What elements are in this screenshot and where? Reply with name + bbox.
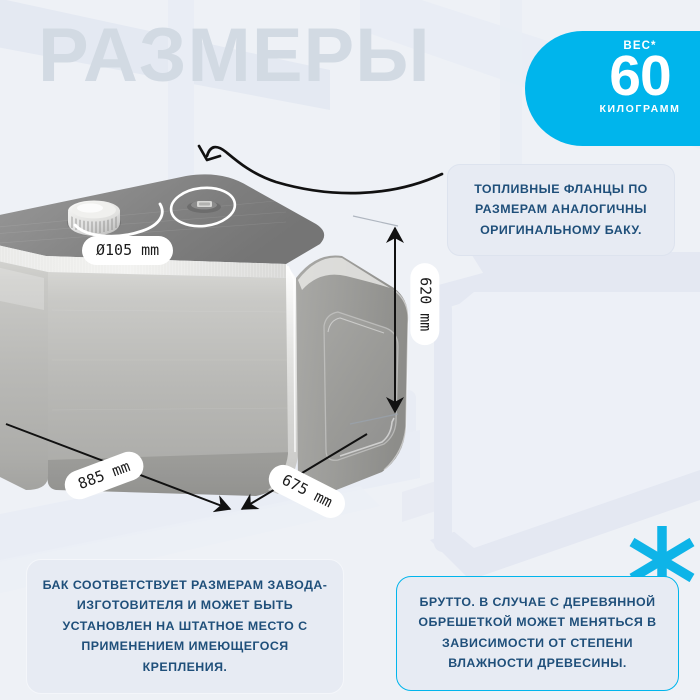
fuel-tank-3d-illustration bbox=[0, 160, 416, 530]
callout-gross-weight: Брутто. В случае с деревянной обрешеткой… bbox=[396, 576, 679, 691]
infographic-canvas: РАЗМЕРЫ ВЕС* 60 КИЛОГРАММ bbox=[0, 0, 700, 700]
dimension-label-diameter: Ø105 mm bbox=[82, 236, 173, 265]
weight-badge-value: 60 bbox=[525, 50, 700, 102]
page-title-watermark: РАЗМЕРЫ bbox=[38, 18, 431, 94]
weight-badge-unit: КИЛОГРАММ bbox=[525, 103, 700, 115]
dimension-label-height: 620 mm bbox=[411, 263, 440, 345]
weight-badge: ВЕС* 60 КИЛОГРАММ bbox=[525, 31, 700, 146]
callout-flanges: Топливные Фланцы по размерам аналогичны … bbox=[447, 164, 675, 256]
callout-factory-dimensions: Бак соответствует размерам завода-изгото… bbox=[26, 559, 344, 694]
